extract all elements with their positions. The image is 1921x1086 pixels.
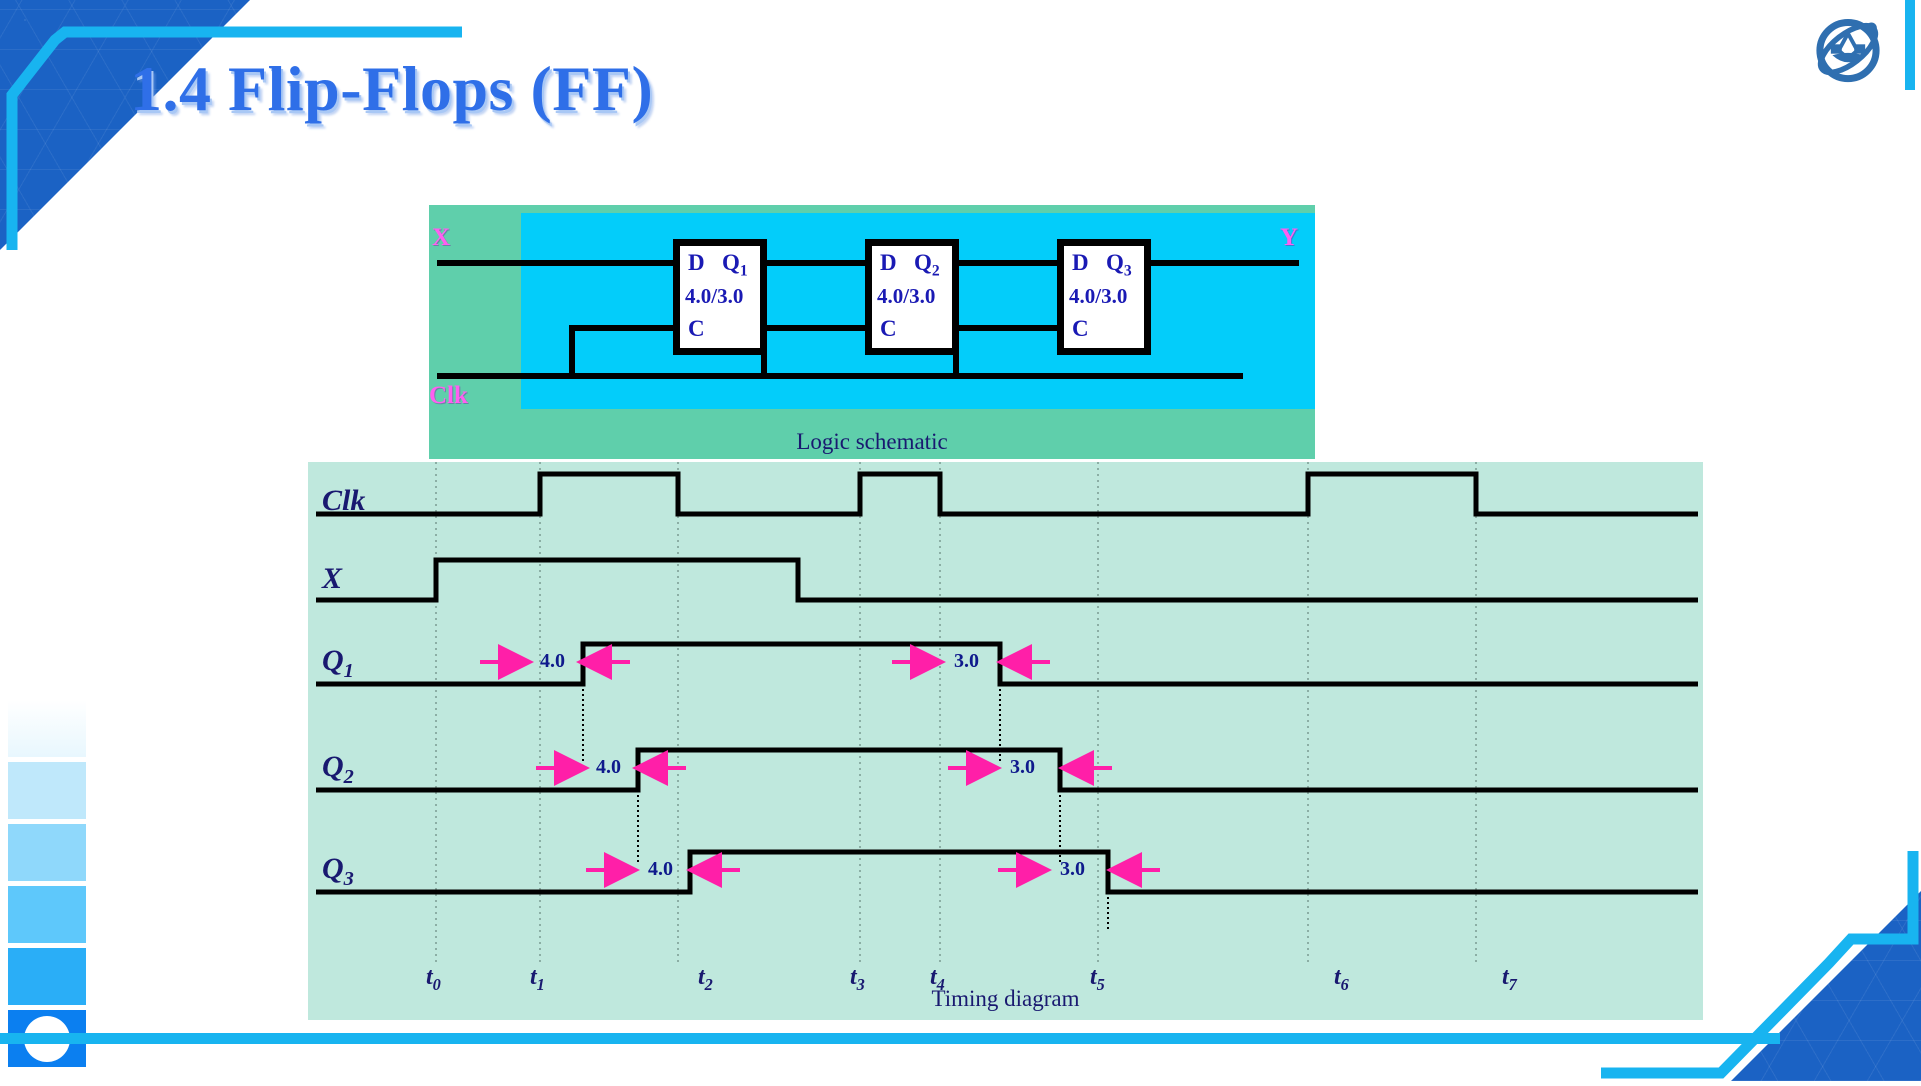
ff3-delays: 4.0/3.0 (1069, 284, 1127, 309)
gradient-square-2 (8, 762, 86, 819)
ff3-d-pin: D (1072, 250, 1106, 276)
timing-label-x: X (322, 562, 342, 596)
timing-diagram-panel: Clk X Q1 Q2 Q3 4.0 3.0 4.0 3.0 4.0 3.0 t… (308, 462, 1703, 1020)
orbit-atom-logo (1809, 10, 1887, 88)
ff1-q-pin: Q (722, 250, 740, 275)
ff2-c-pin: C (880, 316, 897, 342)
gradient-square-3 (8, 824, 86, 881)
page-title: 1.4 Flip-Flops (FF) (130, 52, 653, 126)
hex-pattern-br (1671, 891, 1921, 1081)
schematic-caption: Logic schematic (429, 429, 1315, 455)
wire-clk-bus (437, 373, 1243, 379)
bottom-cyan-rule (0, 1033, 1780, 1044)
timing-label-clk: Clk (322, 484, 365, 518)
ff2-pins: DQ2 (880, 250, 960, 281)
ff3-pins: DQ3 (1072, 250, 1152, 281)
timing-label-q2-text: Q (322, 750, 344, 783)
timing-label-q2: Q2 (322, 750, 354, 789)
timing-caption: Timing diagram (308, 986, 1703, 1012)
wire-x-input (437, 260, 673, 266)
flipflop-1[interactable]: DQ1 4.0/3.0 C (673, 239, 767, 355)
timing-label-q2-sub: 2 (344, 766, 354, 788)
timing-label-x-text: X (322, 562, 342, 595)
gradient-square-4 (8, 886, 86, 943)
wire-clk-tap-2-horiz (761, 325, 869, 331)
wire-q1-to-d2 (767, 260, 865, 266)
wire-clk-tap-1-horiz (569, 325, 677, 331)
gradient-square-1 (8, 700, 86, 757)
schematic-label-y: Y (1280, 224, 1298, 252)
waveform-clk (316, 474, 1698, 514)
timing-waveforms (308, 462, 1703, 1020)
annot-q2-fall: 3.0 (1010, 756, 1035, 779)
ff3-q-pin: Q (1106, 250, 1124, 275)
ff1-delays: 4.0/3.0 (685, 284, 743, 309)
timing-label-q3: Q3 (322, 852, 354, 891)
slide-root: 1.4 Flip-Flops (FF) Logic schematic DQ1 … (0, 0, 1921, 1081)
timing-label-q3-text: Q (322, 852, 344, 885)
ff2-q-sub: 2 (932, 263, 940, 280)
annot-q3-fall: 3.0 (1060, 858, 1085, 881)
ff1-pins: DQ1 (688, 250, 768, 281)
gradient-square-5 (8, 948, 86, 1005)
timing-label-q1-sub: 1 (344, 660, 354, 682)
timing-label-q1: Q1 (322, 644, 354, 683)
timing-label-q3-sub: 3 (344, 868, 354, 890)
ff2-delays: 4.0/3.0 (877, 284, 935, 309)
timing-label-clk-text: Clk (322, 484, 365, 517)
wire-q3-to-y (1151, 260, 1299, 266)
logic-schematic-panel: Logic schematic DQ1 4.0/3.0 C DQ2 (429, 205, 1315, 459)
ff3-q-sub: 3 (1124, 263, 1132, 280)
ff2-d-pin: D (880, 250, 914, 276)
ff1-c-pin: C (688, 316, 705, 342)
wire-q2-to-d3 (959, 260, 1057, 266)
wire-clk-tap-1-vert (569, 325, 575, 379)
bottom-right-hex-decoration (1671, 891, 1921, 1081)
schematic-label-clk: Clk (429, 382, 468, 410)
flipflop-3[interactable]: DQ3 4.0/3.0 C (1057, 239, 1151, 355)
ff3-c-pin: C (1072, 316, 1089, 342)
annot-q3-rise: 4.0 (648, 858, 673, 881)
right-top-cyan-bar (1905, 0, 1915, 90)
annot-q1-fall: 3.0 (954, 650, 979, 673)
wire-clk-tap-3-horiz (953, 325, 1061, 331)
timing-label-q1-text: Q (322, 644, 344, 677)
schematic-label-x: X (432, 224, 450, 252)
annot-q1-rise: 4.0 (540, 650, 565, 673)
waveform-x (316, 560, 1698, 600)
left-gradient-squares (8, 700, 86, 1072)
waveform-q2 (316, 750, 1698, 790)
annot-q2-rise: 4.0 (596, 756, 621, 779)
ff1-d-pin: D (688, 250, 722, 276)
flipflop-2[interactable]: DQ2 4.0/3.0 C (865, 239, 959, 355)
ff2-q-pin: Q (914, 250, 932, 275)
ff1-q-sub: 1 (740, 263, 748, 280)
